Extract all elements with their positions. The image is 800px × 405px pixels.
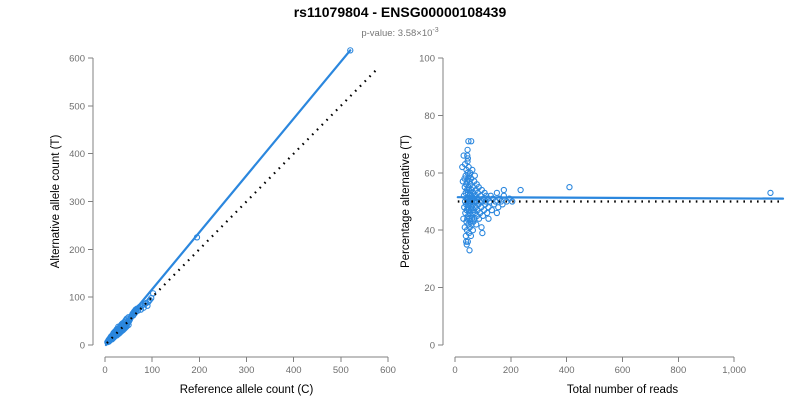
x-axis-tick-label: 1,000	[722, 365, 746, 376]
y-axis-title: Alternative allele count (T)	[50, 135, 62, 269]
y-axis-tick-label: 500	[69, 101, 85, 112]
x-axis-tick-label: 400	[286, 365, 302, 376]
plot-svg: rs11079804 - ENSG00000108439 p-value: 3.…	[0, 0, 800, 400]
data-point	[486, 205, 491, 210]
x-axis-tick-label: 200	[191, 365, 207, 376]
y-axis-tick-label: 600	[69, 54, 85, 65]
x-axis-title: Total number of reads	[567, 384, 678, 396]
data-point	[494, 210, 499, 215]
data-points	[460, 139, 773, 253]
scatter-panel-percentage-vs-reads: 02040608010002004006008001,000Total numb…	[400, 54, 783, 397]
scatter-panel-reference-vs-alternative: 01002003004005006000100200300400500600Re…	[50, 48, 396, 396]
data-point	[567, 185, 572, 190]
data-point	[480, 230, 485, 235]
figure-container: rs11079804 - ENSG00000108439 p-value: 3.…	[0, 0, 800, 400]
data-point	[489, 208, 494, 213]
y-axis-tick-label: 300	[69, 197, 85, 208]
data-point	[518, 187, 523, 192]
x-axis-tick-label: 600	[380, 365, 396, 376]
y-axis-tick-label: 100	[419, 54, 435, 65]
page-title: rs11079804 - ENSG00000108439	[294, 4, 507, 20]
data-point	[768, 190, 773, 195]
x-axis-tick-label: 300	[239, 365, 255, 376]
x-axis-tick-label: 0	[452, 365, 457, 376]
y-axis-tick-label: 200	[69, 245, 85, 256]
pvalue-subtitle: p-value: 3.58×10-3	[361, 27, 438, 39]
x-axis-tick-label: 600	[615, 365, 631, 376]
x-axis-tick-label: 200	[503, 365, 519, 376]
regression-fit-line	[106, 50, 350, 345]
pvalue-text: p-value: 3.58×10	[361, 28, 432, 39]
data-point	[465, 147, 470, 152]
y-axis-title: Percentage alternative (T)	[400, 135, 412, 268]
data-point	[486, 216, 491, 221]
x-axis-tick-label: 400	[559, 365, 575, 376]
y-axis-tick-label: 0	[430, 341, 435, 352]
y-axis-tick-label: 40	[424, 226, 435, 237]
x-axis-tick-label: 0	[102, 365, 107, 376]
data-point	[494, 190, 499, 195]
data-point	[501, 187, 506, 192]
data-point	[479, 225, 484, 230]
regression-fit-line	[458, 197, 783, 198]
y-axis-tick-label: 400	[69, 149, 85, 160]
y-axis-tick-label: 60	[424, 168, 435, 179]
data-point	[467, 248, 472, 253]
y-axis-tick-label: 80	[424, 111, 435, 122]
y-axis-tick-label: 0	[80, 341, 85, 352]
y-axis-tick-label: 20	[424, 283, 435, 294]
x-axis-tick-label: 100	[144, 365, 160, 376]
x-axis-tick-label: 500	[333, 365, 349, 376]
y-axis-tick-label: 100	[69, 293, 85, 304]
data-point	[472, 173, 477, 178]
x-axis-title: Reference allele count (C)	[180, 384, 314, 396]
x-axis-tick-label: 800	[670, 365, 686, 376]
pvalue-exponent: -3	[432, 27, 438, 34]
